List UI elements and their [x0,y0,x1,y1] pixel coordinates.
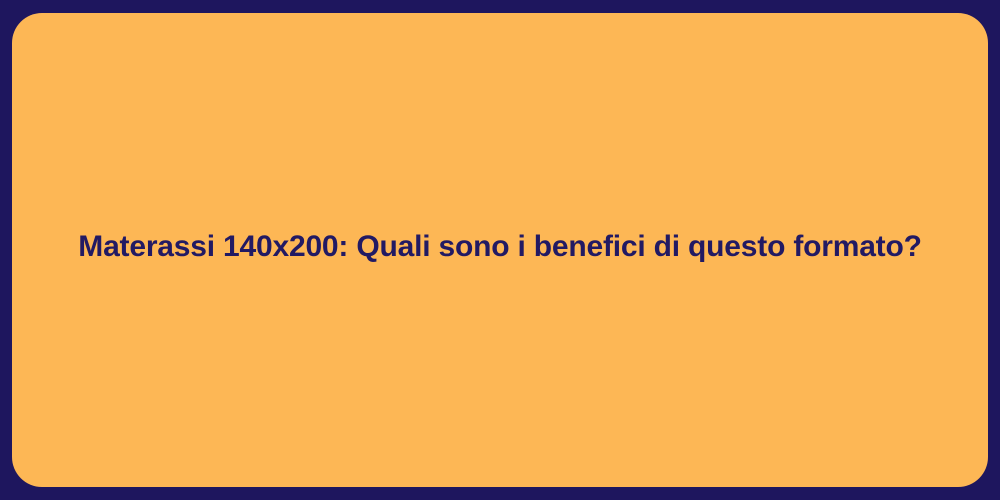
banner-card: Materassi 140x200: Quali sono i benefici… [12,13,988,487]
banner-frame: Materassi 140x200: Quali sono i benefici… [0,0,1000,500]
title-container: Materassi 140x200: Quali sono i benefici… [12,229,988,264]
page-title: Materassi 140x200: Quali sono i benefici… [42,229,957,264]
